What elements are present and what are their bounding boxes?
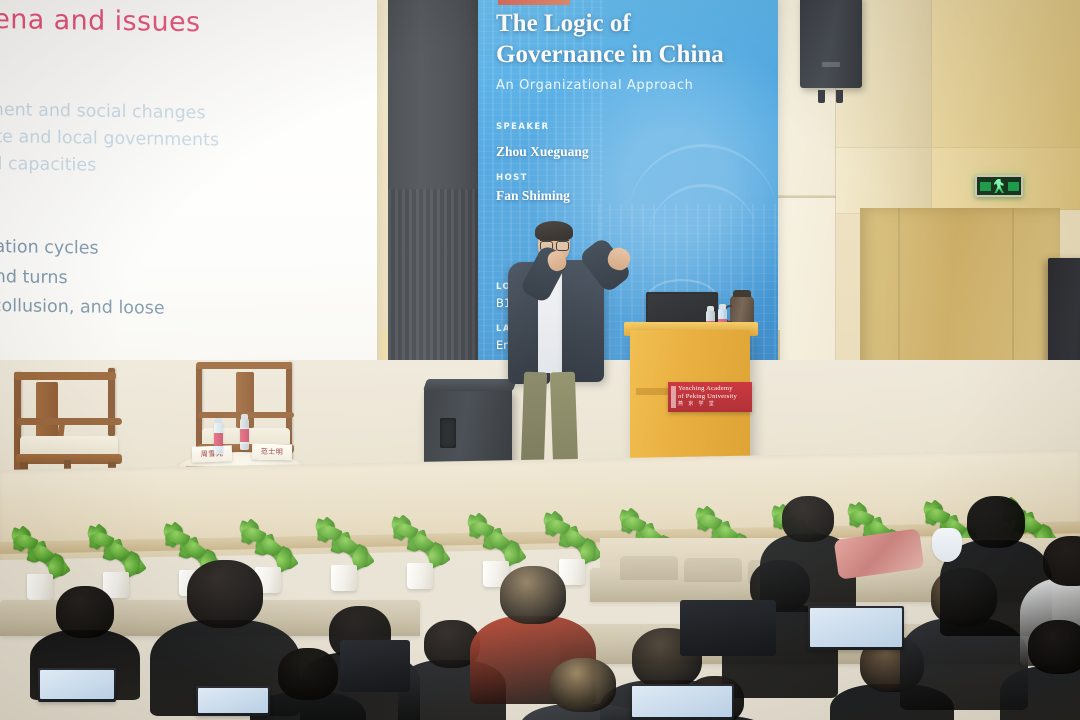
slide-bullet: n-decentralization cycles: [0, 235, 99, 258]
audience-head: [56, 586, 114, 638]
slide-bullet: mic development and social changes: [0, 98, 206, 123]
exit-sign-icon: [975, 175, 1023, 197]
podium-sign-line-1: Yenching Academy: [678, 385, 737, 393]
speaker-hair: [535, 221, 573, 241]
laptop-screen: [40, 670, 114, 699]
slide-bullet: ole of the state and local governments: [0, 125, 219, 150]
plant-pot: [331, 565, 357, 591]
poster-speaker-name: Zhou Xueguang: [496, 144, 589, 160]
audience-head: [782, 496, 834, 542]
projection-screen: phenomena and issues hand, mic developme…: [0, 0, 377, 374]
wall-seam: [770, 196, 836, 198]
laptop-screen: [198, 688, 268, 713]
speaker-bracket: [818, 90, 825, 103]
dark-column-divider: [388, 0, 482, 386]
running-man-icon: [994, 179, 1006, 193]
audience-torso: [1000, 666, 1080, 720]
poster-host-label: HOST: [496, 173, 528, 183]
laptop: [808, 606, 904, 650]
laptop: [196, 686, 270, 716]
exit-sign-glow: [1008, 182, 1019, 191]
laptop-back: [340, 640, 410, 692]
audience-head: [278, 648, 338, 700]
laptop: [38, 668, 116, 702]
audience-head: [500, 566, 566, 624]
subwoofer-port: [440, 418, 456, 448]
water-bottle: [240, 418, 249, 450]
slide-heading: phenomena and issues: [0, 2, 200, 38]
wall-panel: [836, 148, 932, 214]
pku-seal-icon: [671, 386, 676, 408]
audience-member: [1000, 620, 1080, 720]
laptop-screen: [632, 686, 732, 717]
laptop-back: [680, 600, 776, 656]
potted-plant: [312, 529, 376, 591]
speaker-grille: [822, 62, 840, 67]
wall-speaker-icon: [800, 0, 862, 88]
face-mask-icon: [932, 528, 962, 562]
poster-title: The Logic of Governance in China: [496, 8, 766, 70]
slide-bullet: mobilizational capacities: [0, 152, 96, 175]
water-bottle: [214, 422, 223, 454]
laptop: [630, 684, 734, 720]
laptop-screen: [810, 608, 902, 647]
lecture-hall-photo: phenomena and issues hand, mic developme…: [0, 0, 1080, 720]
audience-member: [520, 658, 646, 720]
subwoofer-top: [423, 379, 517, 391]
podium-sign: Yenching Academy of Peking University 燕 …: [668, 382, 752, 412]
poster-host-name: Fan Shiming: [496, 188, 570, 204]
poster-arch-graphic: [648, 184, 758, 294]
audience-head: [967, 496, 1025, 548]
audience-head: [1043, 536, 1080, 586]
audience-head: [1028, 620, 1080, 674]
slide-bullet: itical twists and turns: [0, 265, 68, 288]
potted-plant: [388, 527, 452, 589]
name-card: 范士明: [252, 444, 292, 461]
poster-speaker-label: SPEAKER: [496, 122, 549, 132]
poster-subtitle: An Organizational Approach: [496, 78, 756, 93]
exit-sign-glow: [980, 182, 991, 191]
name-card: 周雪光: [192, 445, 233, 462]
speaker-bracket: [836, 90, 843, 103]
audience-head: [550, 658, 616, 712]
plant-pot: [407, 563, 433, 589]
slide-bullet: ementation, collusion, and loose: [0, 294, 165, 318]
wall-panel: [932, 0, 1080, 148]
audience-seat: [620, 556, 678, 580]
audience-head: [187, 560, 263, 628]
poster-badge: [498, 0, 570, 5]
podium-sign-line-2: of Peking University: [678, 393, 737, 401]
podium-sign-line-cn: 燕 京 学 堂: [678, 401, 737, 409]
